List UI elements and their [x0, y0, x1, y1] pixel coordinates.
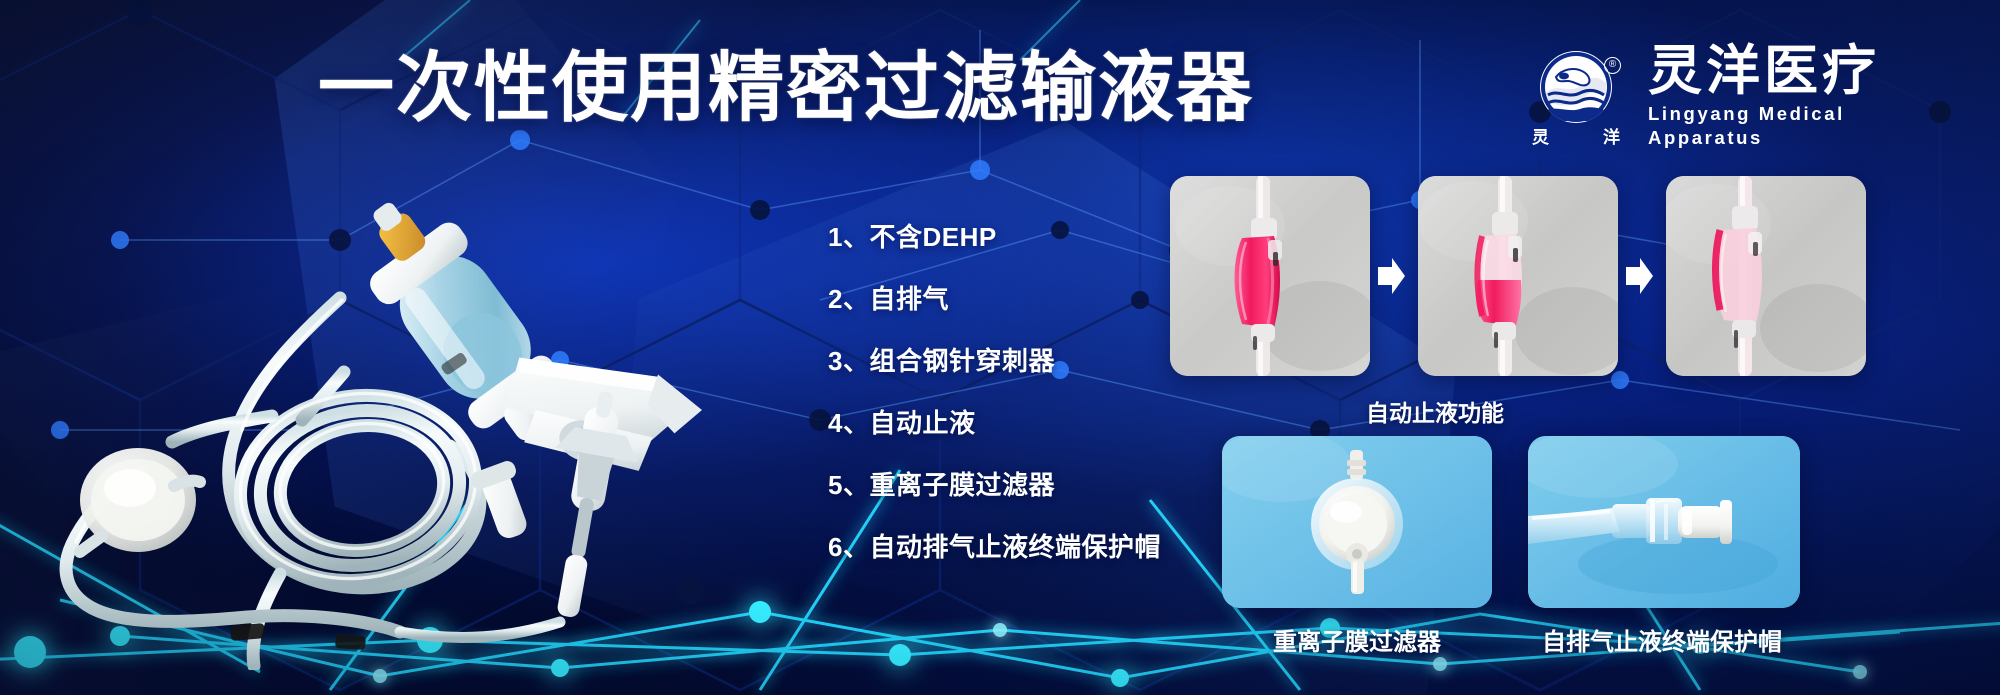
right-arrow-icon — [1376, 256, 1406, 296]
brand-name-cn: 灵洋医疗 — [1648, 42, 1942, 100]
list-item: 5、重离子膜过滤器 — [828, 470, 1188, 532]
lingyang-wave-circle-logo-icon: ® 灵 洋 — [1532, 49, 1626, 143]
photo-drip-chamber-full — [1170, 176, 1370, 376]
photo-terminal-protective-cap — [1528, 436, 1800, 608]
photo-drip-chamber-stopped — [1666, 176, 1866, 376]
list-item: 4、自动止液 — [828, 408, 1188, 470]
page-title: 一次性使用精密过滤输液器 — [318, 46, 1318, 132]
mark-sub-right: 洋 — [1603, 123, 1620, 148]
mark-sub-left: 灵 — [1532, 123, 1549, 148]
photo-ion-membrane-filter — [1222, 436, 1492, 608]
brand-logo: ® 灵 洋 灵洋医疗 Lingyang Medical Apparatus — [1532, 48, 1942, 144]
list-item: 6、自动排气止液终端保护帽 — [828, 532, 1188, 594]
feature-list: 1、不含DEHP 2、自排气 3、组合钢针穿刺器 4、自动止液 5、重离子膜过滤… — [828, 222, 1188, 594]
list-item: 1、不含DEHP — [828, 222, 1188, 284]
brand-name-en: Lingyang Medical Apparatus — [1648, 102, 1942, 150]
registered-trademark-icon: ® — [1604, 57, 1621, 74]
caption-terminal-protective-cap: 自排气止液终端保护帽 — [1542, 622, 1782, 657]
right-arrow-icon — [1624, 256, 1654, 296]
photo-drip-chamber-half — [1418, 176, 1618, 376]
hero-product-photo — [40, 170, 780, 670]
caption-auto-stop-function: 自动止液功能 — [1366, 394, 1504, 428]
list-item: 2、自排气 — [828, 284, 1188, 346]
banner: 一次性使用精密过滤输液器 ® 灵 洋 — [0, 0, 2000, 695]
caption-ion-membrane-filter: 重离子膜过滤器 — [1273, 622, 1441, 657]
list-item: 3、组合钢针穿刺器 — [828, 346, 1188, 408]
